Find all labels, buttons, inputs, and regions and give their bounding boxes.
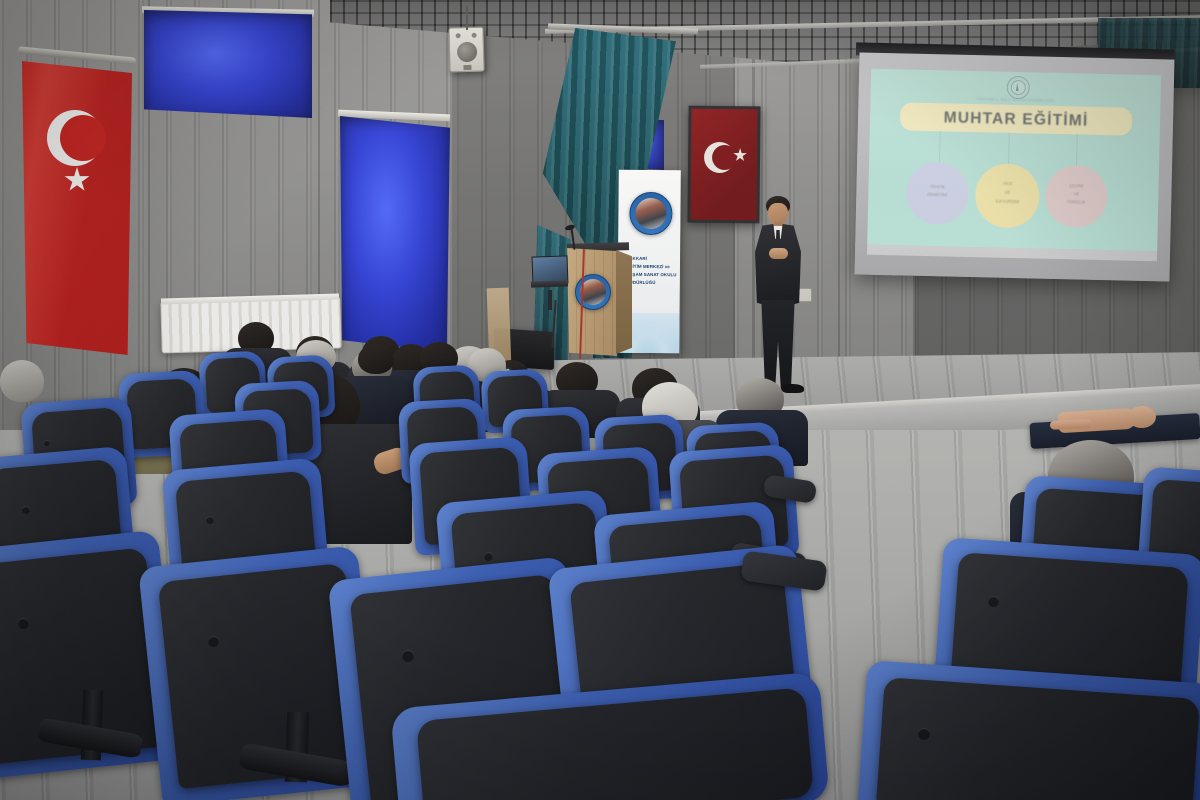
node-aile-label-3: İLKYARDIM bbox=[975, 198, 1039, 205]
podium-emblem-art bbox=[580, 279, 606, 305]
banner-line-3: AKŞAM SANAT OKULU bbox=[626, 272, 677, 277]
seat-stud-r3-1 bbox=[44, 440, 50, 446]
node-cevre: ÇEVRE VE TEMİZLİK bbox=[1045, 165, 1108, 228]
banner-line-2: EĞİTİM MERKEZİ ve bbox=[626, 264, 670, 269]
attendee-16-head bbox=[358, 344, 394, 374]
seat-stud-r1-3 bbox=[402, 650, 414, 662]
seat-stud-r2-3 bbox=[484, 552, 493, 561]
connector-right bbox=[1076, 134, 1078, 165]
podium bbox=[567, 248, 619, 356]
connector-left bbox=[939, 131, 941, 162]
node-aile-label-1: AİLE bbox=[976, 180, 1040, 187]
wall-speaker bbox=[448, 27, 484, 73]
speaker-cable bbox=[466, 6, 468, 30]
mannequin-arm bbox=[1050, 419, 1092, 429]
node-cevre-label-2: VE bbox=[1045, 191, 1107, 198]
flag-crescent-inner bbox=[60, 115, 106, 161]
speaker-bracket bbox=[463, 65, 471, 70]
photo-canvas: HAKKARİ İL MİLLİ EĞİTİM MÜDÜRLÜĞÜ MUHTAR… bbox=[0, 0, 1200, 800]
seat-stud-right-3 bbox=[988, 596, 999, 607]
seat-stud-r2-1 bbox=[22, 506, 30, 514]
node-aile-label-2: VE bbox=[975, 189, 1039, 196]
laptop-base[interactable] bbox=[531, 280, 568, 287]
seat-stud-right-4 bbox=[918, 728, 930, 740]
presenter-shoe-right bbox=[782, 384, 804, 393]
node-trafik-label-2: DENETİMİ bbox=[906, 192, 968, 199]
window-blind-upper-left bbox=[144, 10, 312, 118]
turkish-flag-framed bbox=[687, 106, 760, 224]
framed-crescent-inner bbox=[712, 145, 737, 170]
window-blind-door-left bbox=[340, 116, 450, 352]
projection-screen: HAKKARİ İL MİLLİ EĞİTİM MÜDÜRLÜĞÜ MUHTAR… bbox=[855, 52, 1175, 281]
node-trafik: TRAFİK DENETİMİ bbox=[906, 162, 969, 225]
node-cevre-label-1: ÇEVRE bbox=[1046, 183, 1108, 190]
node-cevre-label-3: TEMİZLİK bbox=[1045, 199, 1107, 206]
presentation-slide: HAKKARİ İL MİLLİ EĞİTİM MÜDÜRLÜĞÜ MUHTAR… bbox=[867, 69, 1161, 252]
node-trafik-label-1: TRAFİK bbox=[906, 184, 968, 191]
milli-egitim-bakanligi-seal bbox=[1007, 76, 1031, 100]
flag-star bbox=[64, 167, 90, 193]
seat-stud-r1-1 bbox=[18, 618, 29, 629]
seal-inner-ring bbox=[1011, 80, 1026, 95]
laptop-stand bbox=[548, 290, 552, 310]
school-emblem bbox=[629, 192, 672, 235]
seat-stud-r1-2 bbox=[208, 636, 219, 647]
attendee-15-head bbox=[0, 360, 44, 402]
framed-flag-face bbox=[690, 109, 757, 221]
seat-stud-r2-2 bbox=[206, 516, 214, 524]
turkish-flag-hanging bbox=[22, 55, 132, 355]
podium-side-panel bbox=[616, 250, 632, 354]
node-aile: AİLE VE İLKYARDIM bbox=[975, 163, 1040, 228]
speaker-tweeter-2 bbox=[472, 33, 477, 38]
connector-center bbox=[1008, 133, 1010, 164]
speaker-woofer bbox=[457, 42, 478, 63]
speaker-tweeter-1 bbox=[456, 33, 461, 38]
school-emblem-art bbox=[635, 198, 666, 229]
presenter-hands bbox=[769, 248, 788, 259]
